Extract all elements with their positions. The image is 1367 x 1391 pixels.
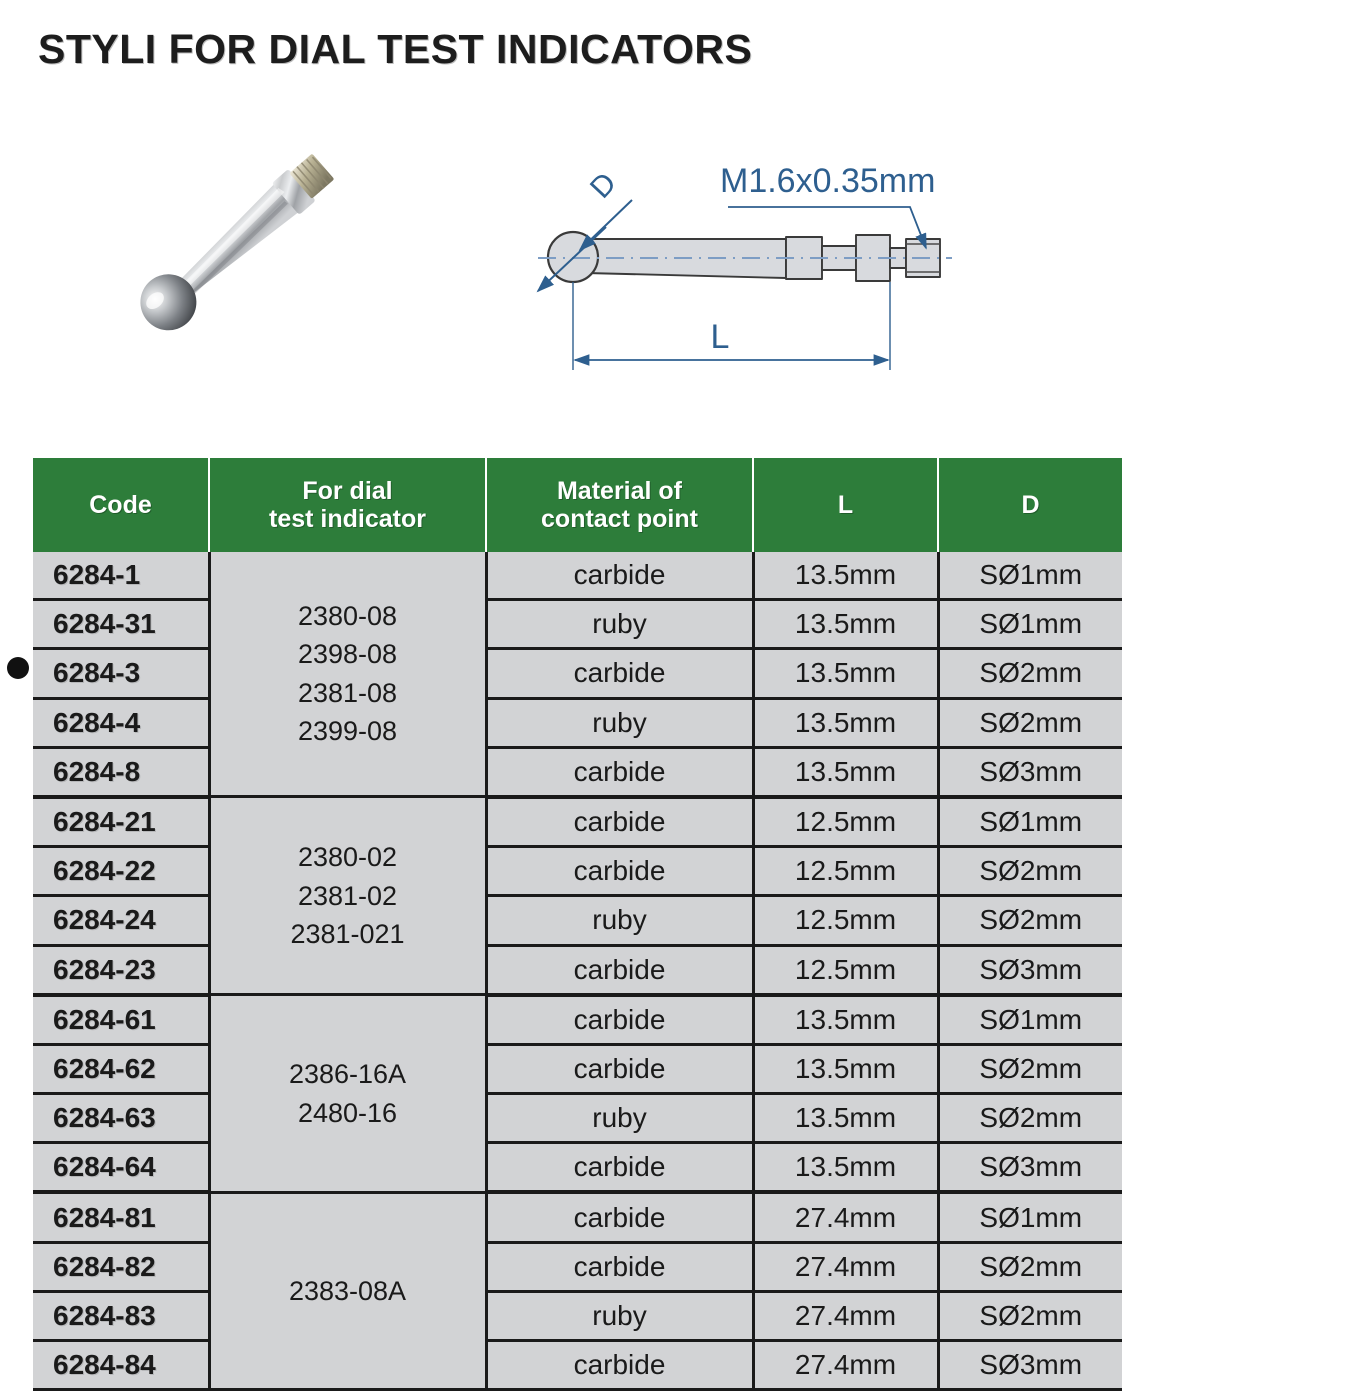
cell-length: 13.5mm bbox=[753, 552, 938, 600]
cell-diameter: SØ1mm bbox=[938, 600, 1122, 649]
cell-material: ruby bbox=[486, 1291, 753, 1340]
table-row: 6284-22carbide12.5mmSØ2mm bbox=[33, 847, 1122, 896]
cell-code: 6284-61 bbox=[33, 995, 209, 1045]
cell-material: carbide bbox=[486, 1143, 753, 1193]
cell-length: 12.5mm bbox=[753, 945, 938, 995]
table-row: 6284-12380-082398-082381-082399-08carbid… bbox=[33, 552, 1122, 600]
cell-material: ruby bbox=[486, 600, 753, 649]
cell-code: 6284-1 bbox=[33, 552, 209, 600]
drawing-l-label: L bbox=[711, 318, 730, 356]
cell-material: carbide bbox=[486, 1341, 753, 1390]
table-header: Code For dial test indicator Material of… bbox=[33, 458, 1122, 552]
cell-dial-test-indicator: 2380-022381-022381-021 bbox=[209, 797, 486, 995]
cell-length: 13.5mm bbox=[753, 995, 938, 1045]
table-header-row: Code For dial test indicator Material of… bbox=[33, 458, 1122, 552]
cell-code: 6284-4 bbox=[33, 698, 209, 747]
cell-code: 6284-83 bbox=[33, 1291, 209, 1340]
cell-diameter: SØ1mm bbox=[938, 995, 1122, 1045]
cell-dial-test-indicator: 2380-082398-082381-082399-08 bbox=[209, 552, 486, 797]
cell-material: ruby bbox=[486, 1094, 753, 1143]
styli-spec-table: Code For dial test indicator Material of… bbox=[33, 458, 1122, 1391]
cell-code: 6284-3 bbox=[33, 649, 209, 698]
cell-length: 13.5mm bbox=[753, 600, 938, 649]
table-row: 6284-63ruby13.5mmSØ2mm bbox=[33, 1094, 1122, 1143]
selected-row-marker bbox=[7, 657, 29, 679]
table-row: 6284-64carbide13.5mmSØ3mm bbox=[33, 1143, 1122, 1193]
cell-diameter: SØ2mm bbox=[938, 649, 1122, 698]
cell-length: 13.5mm bbox=[753, 649, 938, 698]
column-header-material-line1: Material of bbox=[557, 477, 682, 505]
cell-length: 12.5mm bbox=[753, 896, 938, 945]
cell-material: carbide bbox=[486, 649, 753, 698]
stylus-photo-icon bbox=[105, 118, 395, 343]
cell-diameter: SØ3mm bbox=[938, 747, 1122, 797]
column-header-material: Material of contact point bbox=[486, 458, 753, 552]
cell-diameter: SØ2mm bbox=[938, 1291, 1122, 1340]
cell-diameter: SØ2mm bbox=[938, 847, 1122, 896]
cell-length: 27.4mm bbox=[753, 1341, 938, 1390]
cell-material: carbide bbox=[486, 552, 753, 600]
table-row: 6284-612386-16A2480-16carbide13.5mmSØ1mm bbox=[33, 995, 1122, 1045]
cell-code: 6284-82 bbox=[33, 1242, 209, 1291]
technical-drawing: D M1.6x0.35mm L bbox=[520, 160, 1000, 390]
cell-diameter: SØ3mm bbox=[938, 945, 1122, 995]
table-row: 6284-23carbide12.5mmSØ3mm bbox=[33, 945, 1122, 995]
table-row: 6284-24ruby12.5mmSØ2mm bbox=[33, 896, 1122, 945]
cell-dial-test-indicator: 2383-08A bbox=[209, 1192, 486, 1389]
table-row: 6284-4ruby13.5mmSØ2mm bbox=[33, 698, 1122, 747]
cell-length: 13.5mm bbox=[753, 698, 938, 747]
cell-length: 12.5mm bbox=[753, 847, 938, 896]
cell-length: 13.5mm bbox=[753, 1094, 938, 1143]
table-row: 6284-62carbide13.5mmSØ2mm bbox=[33, 1044, 1122, 1093]
drawing-d-label: D bbox=[584, 166, 623, 204]
cell-material: carbide bbox=[486, 995, 753, 1045]
cell-diameter: SØ3mm bbox=[938, 1341, 1122, 1390]
table-row: 6284-83ruby27.4mmSØ2mm bbox=[33, 1291, 1122, 1340]
cell-code: 6284-22 bbox=[33, 847, 209, 896]
page-title: STYLI FOR DIAL TEST INDICATORS bbox=[38, 26, 752, 73]
cell-code: 6284-62 bbox=[33, 1044, 209, 1093]
cell-diameter: SØ2mm bbox=[938, 1094, 1122, 1143]
cell-code: 6284-24 bbox=[33, 896, 209, 945]
column-header-indicator: For dial test indicator bbox=[209, 458, 486, 552]
column-header-indicator-line1: For dial bbox=[302, 477, 392, 505]
cell-diameter: SØ3mm bbox=[938, 1143, 1122, 1193]
cell-material: carbide bbox=[486, 747, 753, 797]
cell-code: 6284-63 bbox=[33, 1094, 209, 1143]
cell-length: 13.5mm bbox=[753, 1143, 938, 1193]
table-row: 6284-31ruby13.5mmSØ1mm bbox=[33, 600, 1122, 649]
cell-material: carbide bbox=[486, 797, 753, 847]
column-header-code: Code bbox=[33, 458, 209, 552]
drawing-thread-label: M1.6x0.35mm bbox=[720, 162, 935, 200]
cell-material: ruby bbox=[486, 896, 753, 945]
cell-diameter: SØ2mm bbox=[938, 896, 1122, 945]
table-row: 6284-82carbide27.4mmSØ2mm bbox=[33, 1242, 1122, 1291]
cell-length: 12.5mm bbox=[753, 797, 938, 847]
column-header-indicator-line2: test indicator bbox=[269, 505, 426, 533]
table-row: 6284-812383-08Acarbide27.4mmSØ1mm bbox=[33, 1192, 1122, 1242]
cell-code: 6284-8 bbox=[33, 747, 209, 797]
cell-material: carbide bbox=[486, 847, 753, 896]
product-photo-block: 6284-3 bbox=[105, 118, 395, 418]
cell-diameter: SØ2mm bbox=[938, 698, 1122, 747]
cell-length: 13.5mm bbox=[753, 747, 938, 797]
cell-length: 13.5mm bbox=[753, 1044, 938, 1093]
cell-diameter: SØ1mm bbox=[938, 1192, 1122, 1242]
cell-length: 27.4mm bbox=[753, 1192, 938, 1242]
cell-diameter: SØ1mm bbox=[938, 552, 1122, 600]
cell-code: 6284-84 bbox=[33, 1341, 209, 1390]
cell-material: carbide bbox=[486, 1192, 753, 1242]
cell-length: 27.4mm bbox=[753, 1242, 938, 1291]
table-row: 6284-3carbide13.5mmSØ2mm bbox=[33, 649, 1122, 698]
cell-code: 6284-23 bbox=[33, 945, 209, 995]
cell-material: carbide bbox=[486, 1044, 753, 1093]
cell-material: ruby bbox=[486, 698, 753, 747]
cell-length: 27.4mm bbox=[753, 1291, 938, 1340]
table-row: 6284-8carbide13.5mmSØ3mm bbox=[33, 747, 1122, 797]
cell-code: 6284-21 bbox=[33, 797, 209, 847]
column-header-material-line2: contact point bbox=[541, 505, 698, 533]
cell-material: carbide bbox=[486, 1242, 753, 1291]
cell-material: carbide bbox=[486, 945, 753, 995]
column-header-diameter: D bbox=[938, 458, 1122, 552]
cell-code: 6284-31 bbox=[33, 600, 209, 649]
cell-dial-test-indicator: 2386-16A2480-16 bbox=[209, 995, 486, 1193]
cell-code: 6284-64 bbox=[33, 1143, 209, 1193]
column-header-length: L bbox=[753, 458, 938, 552]
cell-code: 6284-81 bbox=[33, 1192, 209, 1242]
cell-diameter: SØ2mm bbox=[938, 1044, 1122, 1093]
cell-diameter: SØ1mm bbox=[938, 797, 1122, 847]
cell-diameter: SØ2mm bbox=[938, 1242, 1122, 1291]
table-row: 6284-84carbide27.4mmSØ3mm bbox=[33, 1341, 1122, 1390]
table-row: 6284-212380-022381-022381-021carbide12.5… bbox=[33, 797, 1122, 847]
table-body: 6284-12380-082398-082381-082399-08carbid… bbox=[33, 552, 1122, 1390]
